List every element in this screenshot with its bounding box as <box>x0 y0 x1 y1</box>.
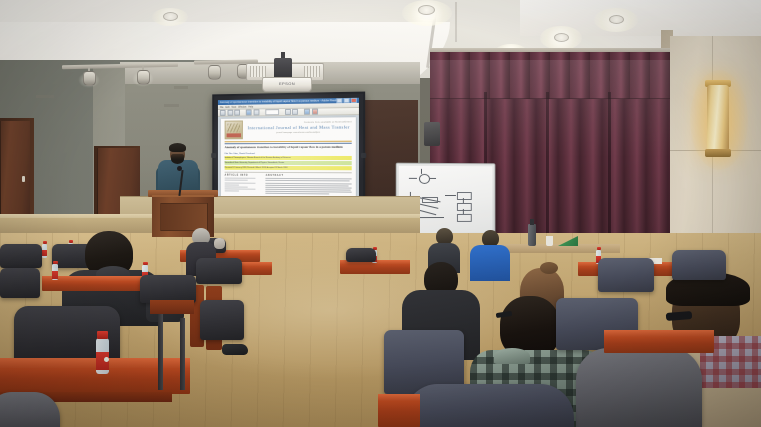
bottle-cap <box>69 240 73 243</box>
journal-logo <box>225 120 243 139</box>
pointer-icon[interactable] <box>246 109 252 115</box>
wb-box-1 <box>457 192 472 200</box>
track-spotlight-2 <box>137 70 150 85</box>
ceiling-projector: EPSON <box>262 77 312 92</box>
article-body-columns: ARTICLE INFO ABSTRACT <box>225 172 352 195</box>
wall-speaker <box>424 122 440 146</box>
menu-item-edit[interactable]: Edit <box>225 105 229 108</box>
bottle-label <box>42 250 47 256</box>
projector-brand-label: EPSON <box>263 81 311 86</box>
article-info-heading: ARTICLE INFO <box>225 174 262 176</box>
zoom-in-icon[interactable] <box>292 109 298 115</box>
menu-item-help[interactable]: Help <box>248 105 253 108</box>
seat[interactable] <box>404 384 574 427</box>
sconce-base <box>705 149 731 157</box>
menu-item-view[interactable]: View <box>231 105 236 108</box>
info-line <box>225 182 256 183</box>
bottle-cap <box>597 247 601 250</box>
podium-front-panel <box>160 203 208 231</box>
bottle-cap <box>143 262 148 265</box>
article-title: Anomaly of spontaneous transition to ins… <box>225 145 352 150</box>
highlight-icon[interactable] <box>304 109 310 115</box>
abstract-line <box>266 193 329 194</box>
journal-header: Contents lists available at ScienceDirec… <box>225 119 352 141</box>
attendee-hand <box>214 238 225 249</box>
info-line <box>225 191 240 192</box>
wall-vent-1 <box>36 95 54 98</box>
print-icon[interactable] <box>234 110 240 116</box>
desk <box>604 337 714 353</box>
article-info-column: ARTICLE INFO <box>225 174 262 194</box>
lecture-hall-photo: EPSON Anomaly of spontaneous transition … <box>0 0 761 427</box>
journal-header-text: Contents lists available at ScienceDirec… <box>246 119 352 133</box>
wb-box-2 <box>457 203 472 211</box>
hand-tool-icon[interactable] <box>253 109 259 115</box>
info-line <box>225 180 248 181</box>
microphone <box>177 166 182 171</box>
paper-cup <box>546 236 553 246</box>
seat[interactable] <box>140 275 196 303</box>
desk <box>340 264 410 274</box>
seat[interactable] <box>196 258 242 284</box>
seat[interactable] <box>0 268 40 298</box>
bottle-label <box>52 271 58 279</box>
seat[interactable] <box>672 250 726 280</box>
abstract-line <box>266 182 352 183</box>
door-handle-left[interactable] <box>22 176 25 182</box>
abstract-heading: ABSTRACT <box>266 175 352 177</box>
screen-mount-left <box>211 153 216 158</box>
menu-item-file[interactable]: File <box>220 105 224 108</box>
seat[interactable] <box>200 300 244 340</box>
wb-connector-2 <box>463 209 464 214</box>
bottle-cap <box>53 261 58 264</box>
seat[interactable] <box>346 248 376 262</box>
speaker-hair <box>169 143 186 152</box>
desk <box>378 401 420 427</box>
screen-mount-right <box>361 153 366 158</box>
wb-connector-1 <box>463 198 464 203</box>
projector-vent-left <box>250 66 266 77</box>
wall-vent-3 <box>174 86 188 89</box>
ceiling-downlight-2 <box>418 5 435 15</box>
info-line <box>225 178 256 179</box>
info-line <box>225 188 256 189</box>
seat[interactable] <box>0 244 42 268</box>
wb-circle-node <box>419 174 430 184</box>
highlighted-history: Received 12 January 2018; Revised 4 Marc… <box>225 166 352 170</box>
journal-title: International Journal of Heat and Mass T… <box>246 124 352 130</box>
projector-vent-right <box>304 66 320 77</box>
zoom-out-icon[interactable] <box>285 109 291 115</box>
ceiling-downlight-1 <box>163 12 178 21</box>
wb-inline-box <box>422 197 438 203</box>
highlighted-affiliation-2: Novosibirsk State University, Department… <box>225 161 352 165</box>
maximize-button[interactable] <box>344 98 350 104</box>
journal-rule <box>225 143 352 144</box>
abstract-column: ABSTRACT <box>266 175 352 195</box>
article-authors: Eda Nur Altan, Hamid Pourkand <box>225 152 352 155</box>
attendee-hair-bun <box>540 262 558 274</box>
wb-box-3 <box>457 214 472 222</box>
track-spotlight-3 <box>208 65 221 80</box>
window-controls[interactable] <box>336 98 357 104</box>
minimize-button[interactable] <box>336 98 342 104</box>
menu-item-window[interactable]: Window <box>238 105 246 108</box>
attendee-collar <box>494 348 530 364</box>
attendee-body-blue-jacket <box>470 245 510 281</box>
comment-icon[interactable] <box>311 109 317 115</box>
info-line <box>225 184 240 185</box>
thermos-handle <box>530 219 534 225</box>
bottle-logo-dot <box>104 357 109 362</box>
seat[interactable] <box>598 258 654 292</box>
ceiling-downlight-4 <box>609 15 624 24</box>
wall-sconce-lamp <box>707 85 729 151</box>
wb-arrow-out <box>430 178 436 179</box>
bottle-cap <box>97 331 108 339</box>
track-spotlight-1 <box>83 71 96 86</box>
highlighted-affiliation-1: Institute of Thermophysics, Siberian Bra… <box>225 156 352 160</box>
info-line <box>225 186 248 187</box>
seat-arm-rail <box>150 300 194 314</box>
wb-arrow-in <box>409 178 417 179</box>
seat[interactable] <box>576 348 702 427</box>
abstract-line <box>266 180 350 181</box>
seat-leg <box>180 318 185 390</box>
thermos-flask <box>528 224 536 246</box>
abstract-line <box>266 178 352 179</box>
wb-link-arrow <box>445 195 456 196</box>
page-number-field[interactable] <box>265 109 279 115</box>
wall-vent-2 <box>164 104 179 107</box>
save-icon[interactable] <box>227 110 233 116</box>
shoe <box>222 344 248 355</box>
open-file-icon[interactable] <box>220 110 226 116</box>
wb-arrow-up <box>421 169 422 174</box>
close-button[interactable] <box>351 98 357 103</box>
journal-homepage-line: journal homepage: www.elsevier.com/locat… <box>246 131 352 134</box>
bottle-cap <box>43 241 47 244</box>
abstract-line <box>266 185 349 186</box>
seat-leg <box>158 312 163 390</box>
speaker-beard <box>171 154 184 164</box>
